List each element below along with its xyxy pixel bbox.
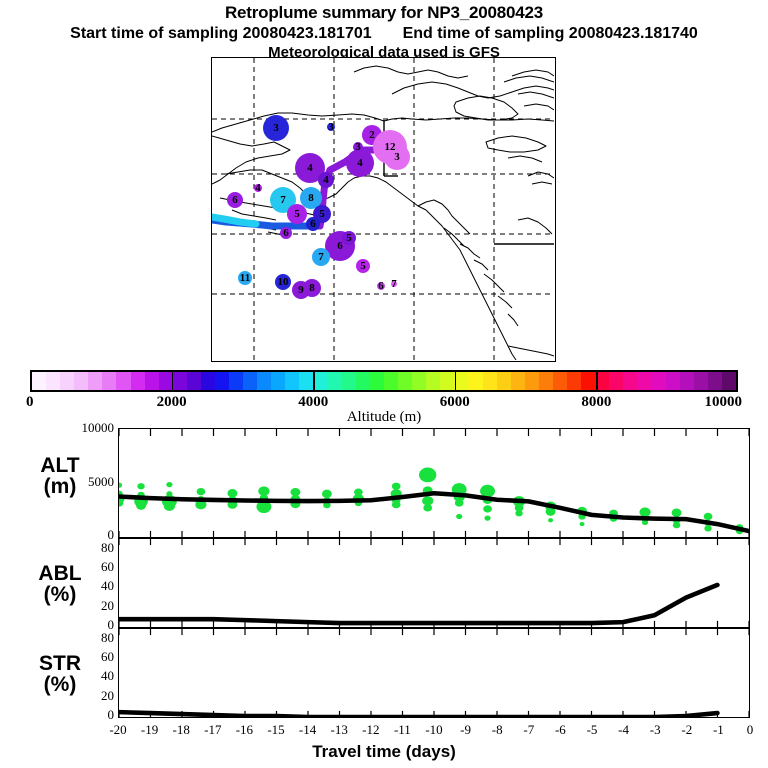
colorbar-segment	[187, 372, 201, 390]
map-marker-label: 6	[337, 240, 343, 252]
colorbar-segment	[257, 372, 271, 390]
map-canvas: 332123344446785566657511109867	[212, 58, 554, 360]
str-plot	[119, 629, 749, 717]
colorbar-segment	[342, 372, 356, 390]
x-axis-tick-label: -3	[640, 722, 670, 738]
map-marker-label: 6	[283, 227, 289, 239]
x-axis-tick-label: -17	[198, 722, 228, 738]
colorbar-segment	[201, 372, 215, 390]
y-axis-tick-label: 0	[108, 707, 115, 723]
map-marker-label: 3	[328, 121, 334, 133]
abl-row-label: ABL(%)	[8, 563, 112, 606]
colorbar-segment	[609, 372, 623, 390]
colorbar-segment	[511, 372, 525, 390]
x-axis-tick-label: -15	[261, 722, 291, 738]
colorbar-segment	[299, 372, 313, 390]
y-axis-tick-label: 5000	[88, 474, 114, 490]
alt-scatter-dot	[164, 501, 175, 510]
colorbar-segment	[384, 372, 398, 390]
map-marker-label: 4	[307, 162, 313, 174]
map-marker-label: 5	[346, 232, 352, 244]
y-axis-tick-label: 20	[101, 598, 114, 614]
y-axis-tick-label: 80	[101, 630, 114, 646]
map-marker-label: 2	[369, 129, 375, 141]
colorbar-segment	[285, 372, 299, 390]
x-axis-tick-label: -19	[135, 722, 165, 738]
map-marker-label: 4	[323, 174, 329, 186]
page-title: Retroplume summary for NP3_20080423	[0, 3, 768, 23]
colorbar-segment	[398, 372, 412, 390]
colorbar-segment	[468, 372, 482, 390]
colorbar-segment	[426, 372, 440, 390]
alt-scatter-dot	[704, 513, 713, 520]
map-marker-label: 3	[394, 151, 400, 163]
map-marker-label: 6	[310, 218, 316, 230]
abl-unit-text: (%)	[8, 584, 112, 605]
start-time-label: Start time of sampling 20080423.181701	[70, 25, 372, 42]
str-label-text: STR	[8, 653, 112, 674]
alt-scatter-dot	[392, 483, 401, 490]
x-axis-tick-label: -9	[451, 722, 481, 738]
colorbar-segment	[145, 372, 159, 390]
colorbar-segment	[440, 372, 454, 390]
x-axis-tick-label: -10	[419, 722, 449, 738]
x-axis-tick-label: -20	[103, 722, 133, 738]
colorbar-segment	[722, 372, 736, 390]
colorbar-segment	[412, 372, 426, 390]
alt-scatter-dot	[322, 490, 332, 498]
alt-scatter-dot	[423, 504, 432, 511]
x-axis-tick-label: -16	[229, 722, 259, 738]
y-axis-tick-label: 10000	[82, 420, 115, 436]
alt-scatter-dot	[704, 525, 711, 531]
y-axis-tick-label: 40	[101, 668, 114, 684]
x-axis-tick-label: -11	[387, 722, 417, 738]
colorbar-segment	[553, 372, 567, 390]
x-axis-tick-label: -18	[166, 722, 196, 738]
alt-scatter-dot	[136, 501, 146, 509]
map-marker-label: 4	[357, 157, 363, 169]
alt-trend-line	[119, 493, 749, 531]
alt-scatter-dot	[673, 522, 680, 528]
alt-panel	[118, 428, 750, 538]
x-axis-tick-labels: -20-19-18-17-16-15-14-13-12-11-10-9-8-7-…	[0, 722, 768, 740]
colorbar-segment	[539, 372, 553, 390]
y-axis-tick-label: 60	[101, 649, 114, 665]
x-axis-tick-label: -7	[514, 722, 544, 738]
colorbar-tick	[455, 370, 457, 392]
end-time-label: End time of sampling 20080423.181740	[403, 25, 698, 42]
colorbar-segment	[666, 372, 680, 390]
header: Retroplume summary for NP3_20080423 Star…	[0, 0, 768, 61]
map-marker-label: 6	[232, 194, 238, 206]
x-axis-tick-label: -13	[324, 722, 354, 738]
abl-plot	[119, 539, 749, 627]
colorbar-tick	[596, 370, 598, 392]
coastlines	[212, 66, 554, 360]
colorbar-segment	[651, 372, 665, 390]
alt-plot	[119, 429, 749, 537]
map-marker-label: 11	[240, 272, 250, 284]
map-marker-label: 8	[308, 192, 314, 204]
map-marker-label: 6	[378, 280, 384, 292]
map-marker-label: 5	[294, 208, 300, 220]
abl-trend-line	[119, 585, 717, 623]
colorbar-segment	[60, 372, 74, 390]
alt-scatter-dot	[422, 496, 433, 505]
map-marker-label: 5	[319, 208, 325, 220]
abl-label-text: ABL	[8, 563, 112, 584]
x-axis-tick-label: -1	[703, 722, 733, 738]
colorbar-segment	[483, 372, 497, 390]
altitude-colorbar	[30, 370, 738, 392]
x-axis-tick-label: -2	[672, 722, 702, 738]
map-marker-label: 3	[273, 122, 279, 134]
alt-scatter-dot	[166, 482, 172, 487]
alt-scatter-dot	[392, 501, 401, 508]
colorbar-segment	[131, 372, 145, 390]
colorbar-segment	[525, 372, 539, 390]
alt-scatter-dot	[483, 505, 492, 512]
colorbar-segment	[694, 372, 708, 390]
map-marker-label: 3	[355, 141, 361, 153]
colorbar-segment	[623, 372, 637, 390]
alt-scatter-dot	[456, 514, 462, 519]
colorbar-segment	[567, 372, 581, 390]
sampling-times: Start time of sampling 20080423.181701 E…	[0, 25, 768, 43]
alt-scatter-dot	[548, 518, 553, 522]
alt-scatter-dot	[455, 499, 464, 506]
graticule	[212, 58, 554, 360]
str-unit-text: (%)	[8, 674, 112, 695]
map-marker-label: 10	[278, 276, 290, 288]
colorbar-segment	[173, 372, 187, 390]
alt-scatter-dot	[515, 510, 522, 516]
colorbar-segment	[102, 372, 116, 390]
colorbar-segment	[356, 372, 370, 390]
colorbar-segment	[243, 372, 257, 390]
alt-scatter-dot	[484, 515, 490, 520]
x-axis-tick-label: -8	[482, 722, 512, 738]
x-axis-tick-label: -14	[293, 722, 323, 738]
alt-scatter-dot	[672, 509, 682, 517]
colorbar-segment	[116, 372, 130, 390]
y-axis-tick-label: 40	[101, 578, 114, 594]
abl-panel	[118, 538, 750, 628]
y-axis-tick-label: 20	[101, 688, 114, 704]
map-marker-label: 9	[298, 284, 304, 296]
x-axis-tick-label: 0	[735, 722, 765, 738]
alt-scatter-dot	[580, 522, 585, 526]
colorbar-segment	[215, 372, 229, 390]
colorbar-segment	[74, 372, 88, 390]
str-trend-line	[119, 712, 717, 717]
x-axis-tick-label: -6	[545, 722, 575, 738]
colorbar-segment	[88, 372, 102, 390]
colorbar-tick	[313, 370, 315, 392]
colorbar-segment	[637, 372, 651, 390]
alt-scatter-dot	[137, 483, 144, 489]
colorbar-segment	[708, 372, 722, 390]
colorbar-segment	[46, 372, 60, 390]
retroplume-map: 332123344446785566657511109867	[211, 57, 556, 362]
x-axis-tick-label: -4	[609, 722, 639, 738]
alt-scatter-dot	[197, 488, 206, 495]
colorbar-segment	[229, 372, 243, 390]
x-axis-tick-label: -12	[356, 722, 386, 738]
map-marker-label: 8	[309, 282, 315, 294]
colorbar-segment	[32, 372, 46, 390]
alt-scatter-dot	[419, 468, 436, 483]
y-axis-tick-label: 60	[101, 559, 114, 575]
colorbar-segment	[454, 372, 468, 390]
colorbar-segment	[328, 372, 342, 390]
colorbar-segment	[314, 372, 328, 390]
str-row-label: STR(%)	[8, 653, 112, 696]
map-marker-label: 7	[391, 278, 397, 290]
map-marker-label: 4	[255, 182, 261, 194]
colorbar-segment	[497, 372, 511, 390]
map-marker-label: 7	[280, 194, 286, 206]
colorbar-segment	[271, 372, 285, 390]
x-axis-title: Travel time (days)	[0, 742, 768, 762]
str-panel	[118, 628, 750, 718]
alt-scatter-dot	[258, 486, 269, 495]
map-marker-label: 5	[360, 260, 366, 272]
alt-scatter-dot	[119, 483, 122, 488]
colorbar-tick	[172, 370, 174, 392]
map-marker-label: 7	[318, 251, 324, 263]
colorbar-segment	[680, 372, 694, 390]
colorbar-segment	[581, 372, 595, 390]
y-axis-tick-label: 80	[101, 540, 114, 556]
colorbar-segment	[370, 372, 384, 390]
colorbar-title: Altitude (m)	[0, 409, 768, 426]
x-axis-tick-label: -5	[577, 722, 607, 738]
